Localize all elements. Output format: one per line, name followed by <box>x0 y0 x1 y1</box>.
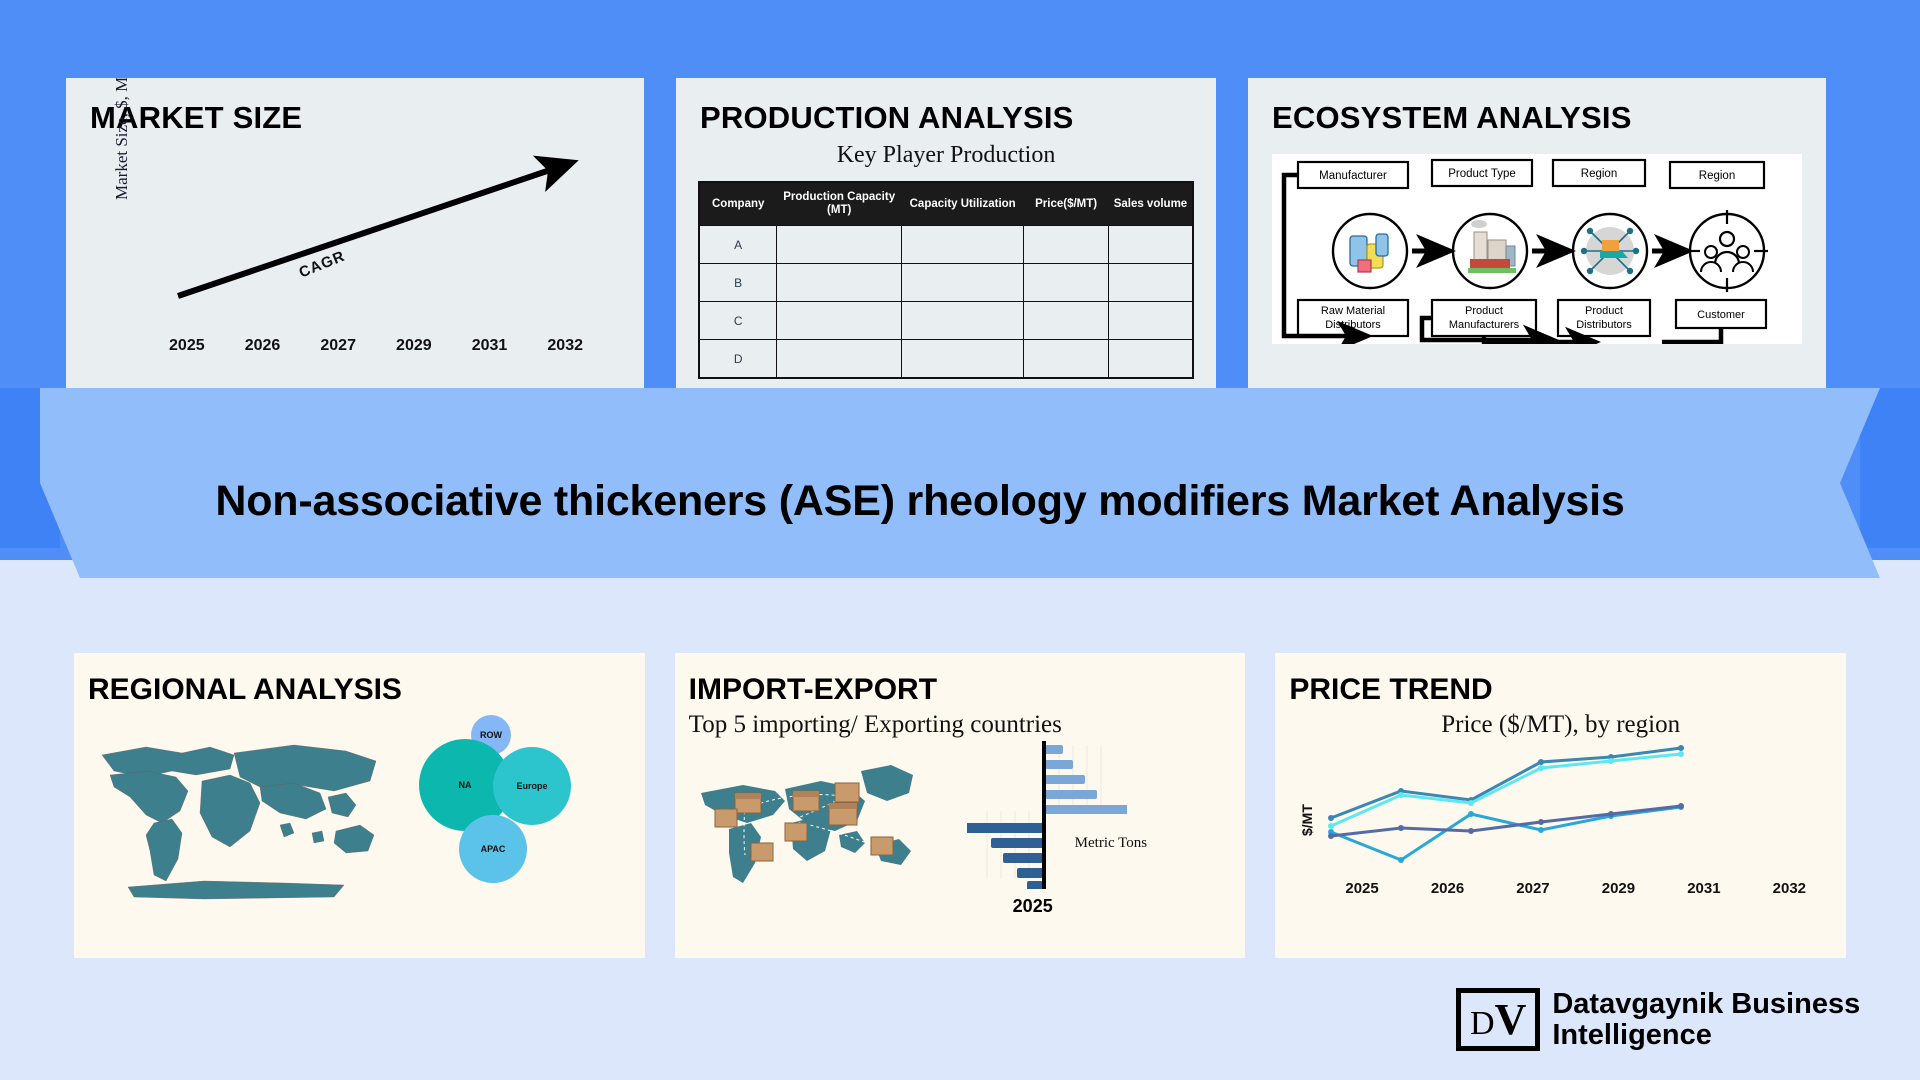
th-price: Price($/MT) <box>1024 182 1109 226</box>
logo-letter-d: D <box>1470 1005 1495 1043</box>
cell-price-b[interactable] <box>1024 264 1109 302</box>
svg-text:Distributors: Distributors <box>1325 319 1381 331</box>
import-bars <box>1045 745 1127 814</box>
metric-tons-label: Metric Tons <box>1075 835 1147 852</box>
x-label-2027: 2027 <box>307 337 369 355</box>
bubble-label-na: NA <box>459 780 472 790</box>
svg-text:Product Type: Product Type <box>1448 168 1516 180</box>
market-size-chart: Market Size, $, Mn CAGR 2025 <box>66 144 644 359</box>
production-analysis-title: PRODUCTION ANALYSIS <box>676 78 1216 136</box>
bubble-apac[interactable]: APAC <box>459 815 527 883</box>
price-trend-title: PRICE TREND <box>1275 653 1846 707</box>
key-player-production-table: Company Production Capacity (MT) Capacit… <box>698 181 1194 379</box>
svg-text:Region: Region <box>1699 170 1735 182</box>
price-trend-line-chart <box>1319 740 1689 875</box>
svg-text:Manufacturers: Manufacturers <box>1449 319 1520 331</box>
import-export-card: IMPORT-EXPORT Top 5 importing/ Exporting… <box>675 653 1246 958</box>
bubble-label-apac: APAC <box>481 844 506 854</box>
world-map-icon <box>84 727 404 907</box>
production-analysis-card: PRODUCTION ANALYSIS Key Player Productio… <box>676 78 1216 388</box>
market-size-title: MARKET SIZE <box>66 78 644 136</box>
cell-sales-d[interactable] <box>1108 340 1193 378</box>
cell-price-d[interactable] <box>1024 340 1109 378</box>
svg-text:Customer: Customer <box>1697 309 1745 321</box>
price-trend-card: PRICE TREND Price ($/MT), by region $/MT <box>1275 653 1846 958</box>
th-production-capacity: Production Capacity (MT) <box>777 182 902 226</box>
cell-sales-c[interactable] <box>1108 302 1193 340</box>
cell-capacity-b[interactable] <box>777 264 902 302</box>
pt-x-2026: 2026 <box>1405 880 1490 897</box>
svg-text:Distributors: Distributors <box>1576 319 1632 331</box>
import-export-body: Metric Tons 2025 <box>675 739 1246 919</box>
price-trend-body: $/MT <box>1275 740 1846 915</box>
pt-x-2025: 2025 <box>1319 880 1404 897</box>
svg-text:Raw Material: Raw Material <box>1321 305 1385 317</box>
regional-analysis-body: ROW NA Europe APAC <box>74 707 645 917</box>
th-sales-volume: Sales volume <box>1108 182 1193 226</box>
region-bubbles: ROW NA Europe APAC <box>419 715 569 905</box>
logo-wordmark: Datavgaynik Business Intelligence <box>1552 989 1860 1050</box>
market-size-x-labels: 2025 2026 2027 2029 2031 2032 <box>156 337 596 355</box>
x-label-2031: 2031 <box>459 337 521 355</box>
table-row: D <box>699 340 1193 378</box>
logo-letter-v: V <box>1495 994 1527 1045</box>
export-bars <box>967 823 1043 889</box>
regional-analysis-title: REGIONAL ANALYSIS <box>74 653 645 707</box>
cell-company-b: B <box>699 264 777 302</box>
cell-utilization-c[interactable] <box>901 302 1023 340</box>
pt-x-2029: 2029 <box>1576 880 1661 897</box>
logo-mark-icon: D V <box>1456 988 1540 1051</box>
series-1-points <box>1328 745 1684 821</box>
th-company: Company <box>699 182 777 226</box>
table-row: B <box>699 264 1193 302</box>
bottom-card-row: REGIONAL ANALYSIS <box>0 653 1920 958</box>
svg-text:Product: Product <box>1585 305 1623 317</box>
market-size-card: MARKET SIZE Market Size, $, Mn CAGR <box>66 78 644 388</box>
x-label-2032: 2032 <box>534 337 596 355</box>
cell-price-c[interactable] <box>1024 302 1109 340</box>
cell-capacity-a[interactable] <box>777 226 902 264</box>
table-header-row: Company Production Capacity (MT) Capacit… <box>699 182 1193 226</box>
cell-utilization-b[interactable] <box>901 264 1023 302</box>
pt-x-2031: 2031 <box>1661 880 1746 897</box>
x-label-2025: 2025 <box>156 337 218 355</box>
x-label-2029: 2029 <box>383 337 445 355</box>
svg-text:Region: Region <box>1581 168 1617 180</box>
series-3-line <box>1331 807 1681 860</box>
x-label-2026: 2026 <box>232 337 294 355</box>
pt-x-2027: 2027 <box>1490 880 1575 897</box>
top-card-row: MARKET SIZE Market Size, $, Mn CAGR <box>0 78 1920 388</box>
cell-capacity-c[interactable] <box>777 302 902 340</box>
series-2-points <box>1328 751 1684 829</box>
ecosystem-diagram: Manufacturer Product Type Region Region <box>1272 154 1802 344</box>
cell-company-a: A <box>699 226 777 264</box>
logo-line-1: Datavgaynik Business <box>1552 989 1860 1019</box>
cell-company-c: C <box>699 302 777 340</box>
bubble-label-row: ROW <box>480 730 502 740</box>
ecosystem-analysis-card: ECOSYSTEM ANALYSIS Manufacturer Product … <box>1248 78 1826 388</box>
cell-company-d: D <box>699 340 777 378</box>
th-capacity-utilization: Capacity Utilization <box>901 182 1023 226</box>
cell-capacity-d[interactable] <box>777 340 902 378</box>
svg-text:Manufacturer: Manufacturer <box>1319 170 1387 182</box>
svg-text:Product: Product <box>1465 305 1503 317</box>
page-title: Non-associative thickeners (ASE) rheolog… <box>0 388 1840 578</box>
cell-sales-b[interactable] <box>1108 264 1193 302</box>
import-export-tornado-chart <box>967 739 1127 889</box>
import-export-year-label: 2025 <box>1013 896 1053 917</box>
regional-analysis-card: REGIONAL ANALYSIS <box>74 653 645 958</box>
market-size-y-axis-label: Market Size, $, Mn <box>112 78 132 200</box>
pt-x-2032: 2032 <box>1747 880 1832 897</box>
cell-utilization-a[interactable] <box>901 226 1023 264</box>
cell-utilization-d[interactable] <box>901 340 1023 378</box>
bubble-europe[interactable]: Europe <box>493 747 571 825</box>
production-analysis-subtitle: Key Player Production <box>676 142 1216 169</box>
import-export-title: IMPORT-EXPORT <box>675 653 1246 707</box>
ecosystem-flow-svg: Manufacturer Product Type Region Region <box>1272 154 1802 344</box>
import-export-subtitle: Top 5 importing/ Exporting countries <box>675 711 1246 739</box>
price-trend-x-labels: 2025 2026 2027 2029 2031 2032 <box>1319 880 1832 897</box>
table-row: A <box>699 226 1193 264</box>
bubble-label-europe: Europe <box>516 781 547 791</box>
title-ribbon: Non-associative thickeners (ASE) rheolog… <box>0 388 1920 578</box>
table-row: C <box>699 302 1193 340</box>
cell-price-a[interactable] <box>1024 226 1109 264</box>
ecosystem-analysis-title: ECOSYSTEM ANALYSIS <box>1248 78 1826 136</box>
trade-routes-map-icon <box>689 745 949 895</box>
logo-line-2: Intelligence <box>1552 1020 1860 1050</box>
market-size-bars <box>156 161 596 331</box>
brand-logo: D V Datavgaynik Business Intelligence <box>1456 988 1860 1051</box>
price-trend-subtitle: Price ($/MT), by region <box>1275 711 1846 740</box>
price-trend-y-axis-label: $/MT <box>1299 804 1315 836</box>
cell-sales-a[interactable] <box>1108 226 1193 264</box>
